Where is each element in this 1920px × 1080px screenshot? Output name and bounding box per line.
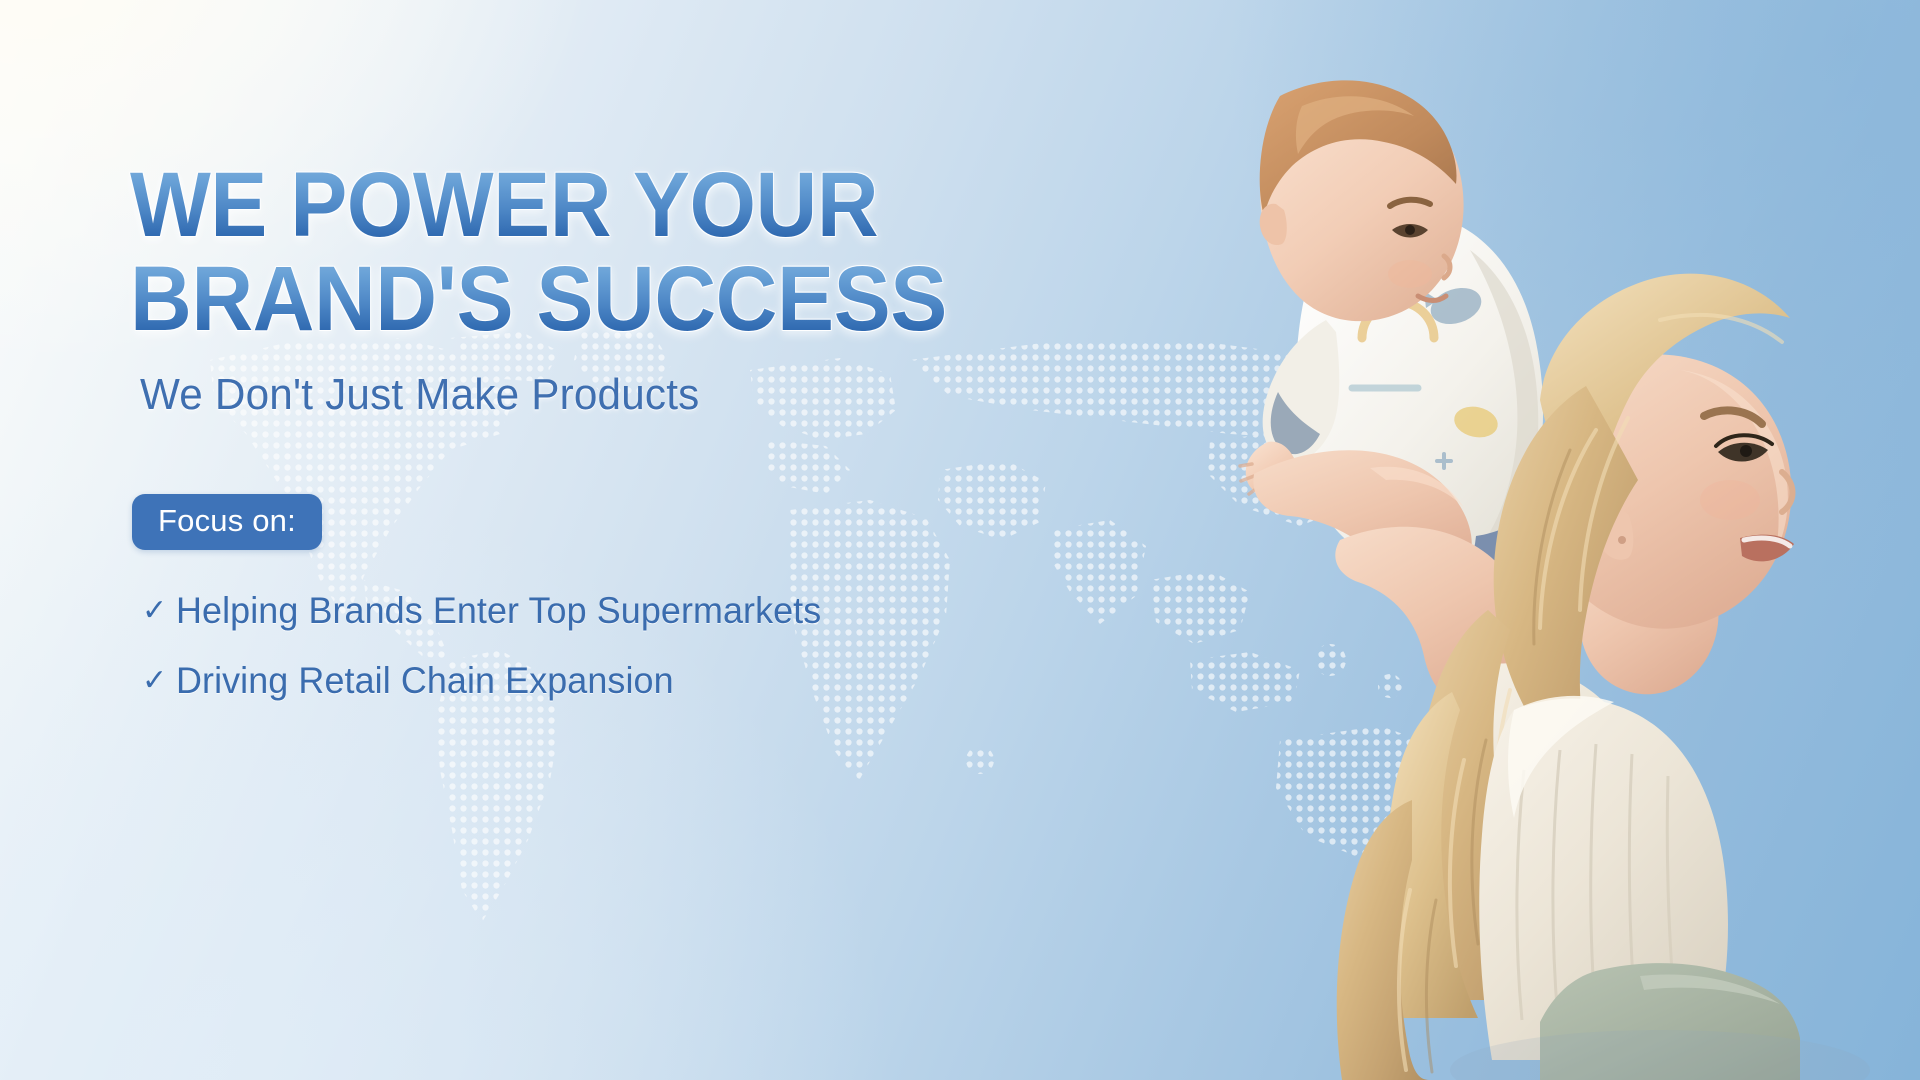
list-item-label: Driving Retail Chain Expansion xyxy=(176,660,674,702)
check-icon: ✓ xyxy=(142,666,176,696)
headline-line-2: BRAND'S SUCCESS xyxy=(130,254,967,344)
hero-content: WE POWER YOUR BRAND'S SUCCESS We Don't J… xyxy=(130,160,1030,730)
check-icon: ✓ xyxy=(142,596,176,626)
focus-badge: Focus on: xyxy=(132,494,322,550)
subtitle: We Don't Just Make Products xyxy=(140,370,994,420)
page-title: WE POWER YOUR BRAND'S SUCCESS xyxy=(130,160,967,344)
list-item: ✓ Helping Brands Enter Top Supermarkets xyxy=(142,590,1030,632)
list-item: ✓ Driving Retail Chain Expansion xyxy=(142,660,1030,702)
list-item-label: Helping Brands Enter Top Supermarkets xyxy=(176,590,821,632)
photo-woman-lifting-baby xyxy=(1040,70,1920,1080)
hero-banner: WE POWER YOUR BRAND'S SUCCESS We Don't J… xyxy=(0,0,1920,1080)
headline-line-1: WE POWER YOUR xyxy=(130,160,967,250)
focus-list: ✓ Helping Brands Enter Top Supermarkets … xyxy=(142,590,1030,702)
background-glow-top-right xyxy=(1220,0,1920,600)
